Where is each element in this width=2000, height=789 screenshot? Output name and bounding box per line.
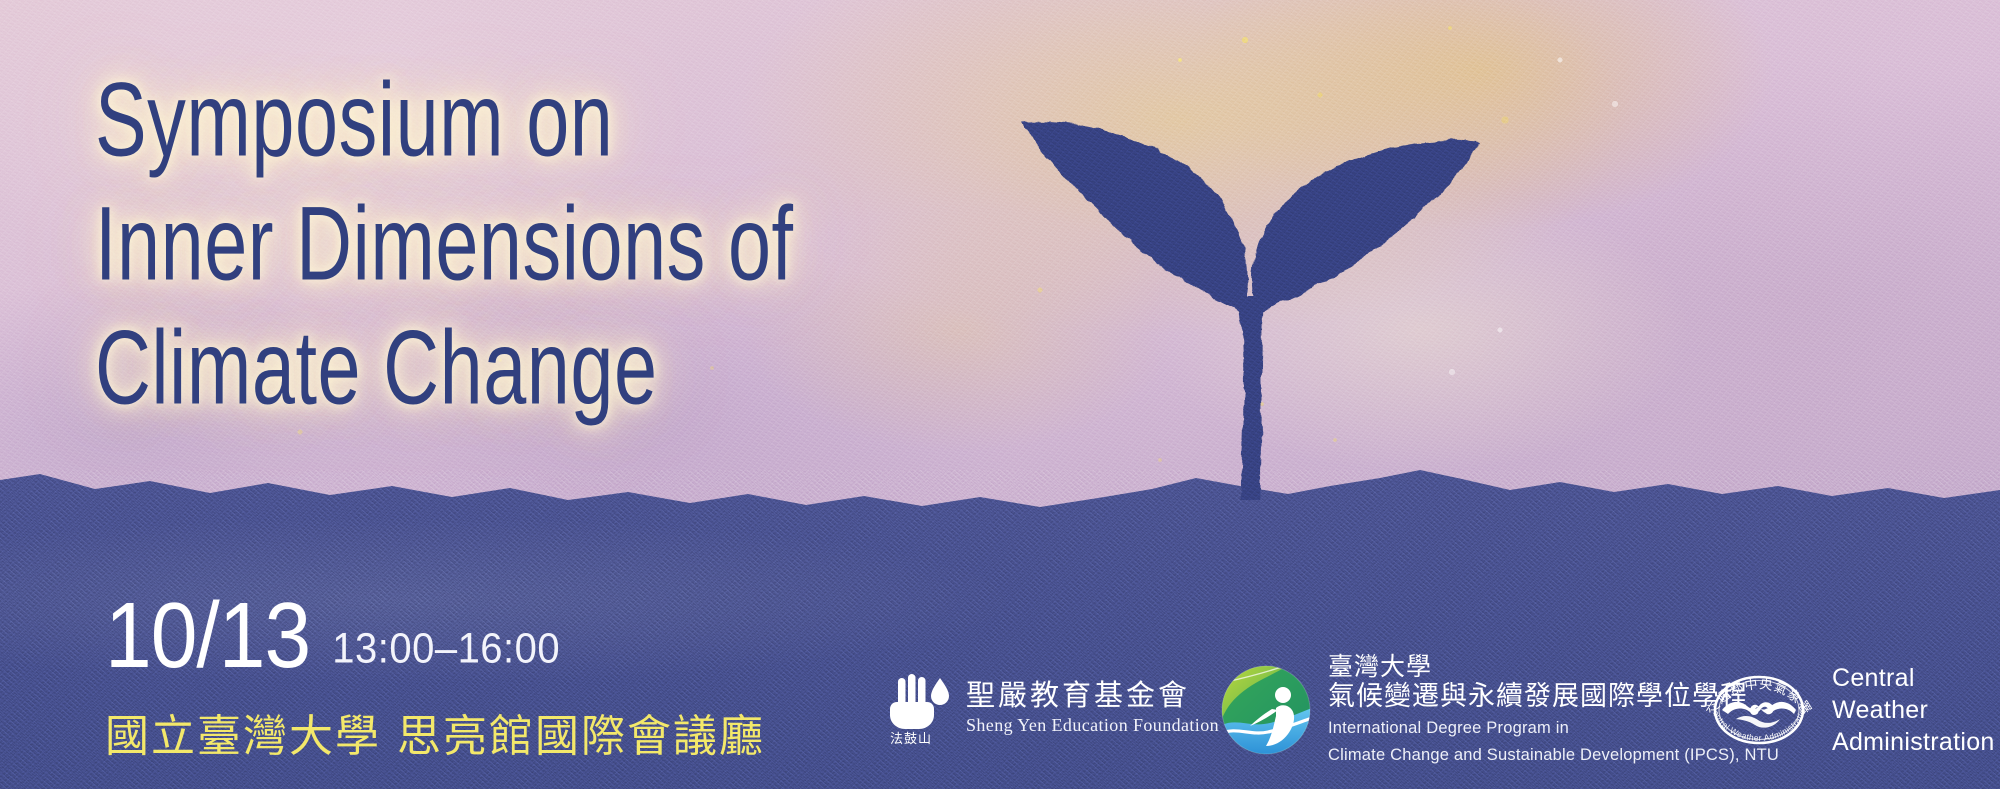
event-time: 13:00–16:00 xyxy=(332,625,560,680)
logo-cwa-name-en-3: Administration xyxy=(1832,726,1995,758)
logo-sheng-yen-name-zh: 聖嚴教育基金會 xyxy=(966,680,1219,711)
logo-sheng-yen-name-en: Sheng Yen Education Foundation xyxy=(966,715,1219,736)
wave-oval-seal-icon: 交通部中央氣象署 Central Weather Administration xyxy=(1700,654,1818,766)
event-banner: Symposium on Inner Dimensions of Climate… xyxy=(0,0,2000,789)
event-date: 10/13 xyxy=(105,592,310,679)
leaf-figure-wave-emblem-icon xyxy=(1220,664,1312,756)
event-venue: 國立臺灣大學 思亮館國際會議廳 xyxy=(105,700,765,764)
dharma-drum-mountain-label: 法鼓山 xyxy=(890,728,932,747)
page-title: Symposium on Inner Dimensions of Climate… xyxy=(95,58,935,430)
sprout-seedling-icon xyxy=(960,60,1520,500)
logo-cwa-name-en-1: Central xyxy=(1832,662,1995,694)
logo-ntu-ipcs: 臺灣大學 氣候變遷與永續發展國際學位學程 International Degre… xyxy=(1220,652,1779,768)
palm-hand-icon: 法鼓山 xyxy=(890,672,954,744)
sponsor-logo-strip: 法鼓山 聖嚴教育基金會 Sheng Yen Education Foundati… xyxy=(890,648,1980,778)
logo-sheng-yen: 法鼓山 聖嚴教育基金會 Sheng Yen Education Foundati… xyxy=(890,672,1219,744)
title-line-3: Climate Change xyxy=(95,292,851,443)
event-datetime: 10/13 13:00–16:00 xyxy=(105,600,560,679)
logo-cwa: 交通部中央氣象署 Central Weather Administration … xyxy=(1700,654,1995,766)
logo-cwa-name-en-2: Weather xyxy=(1832,694,1995,726)
